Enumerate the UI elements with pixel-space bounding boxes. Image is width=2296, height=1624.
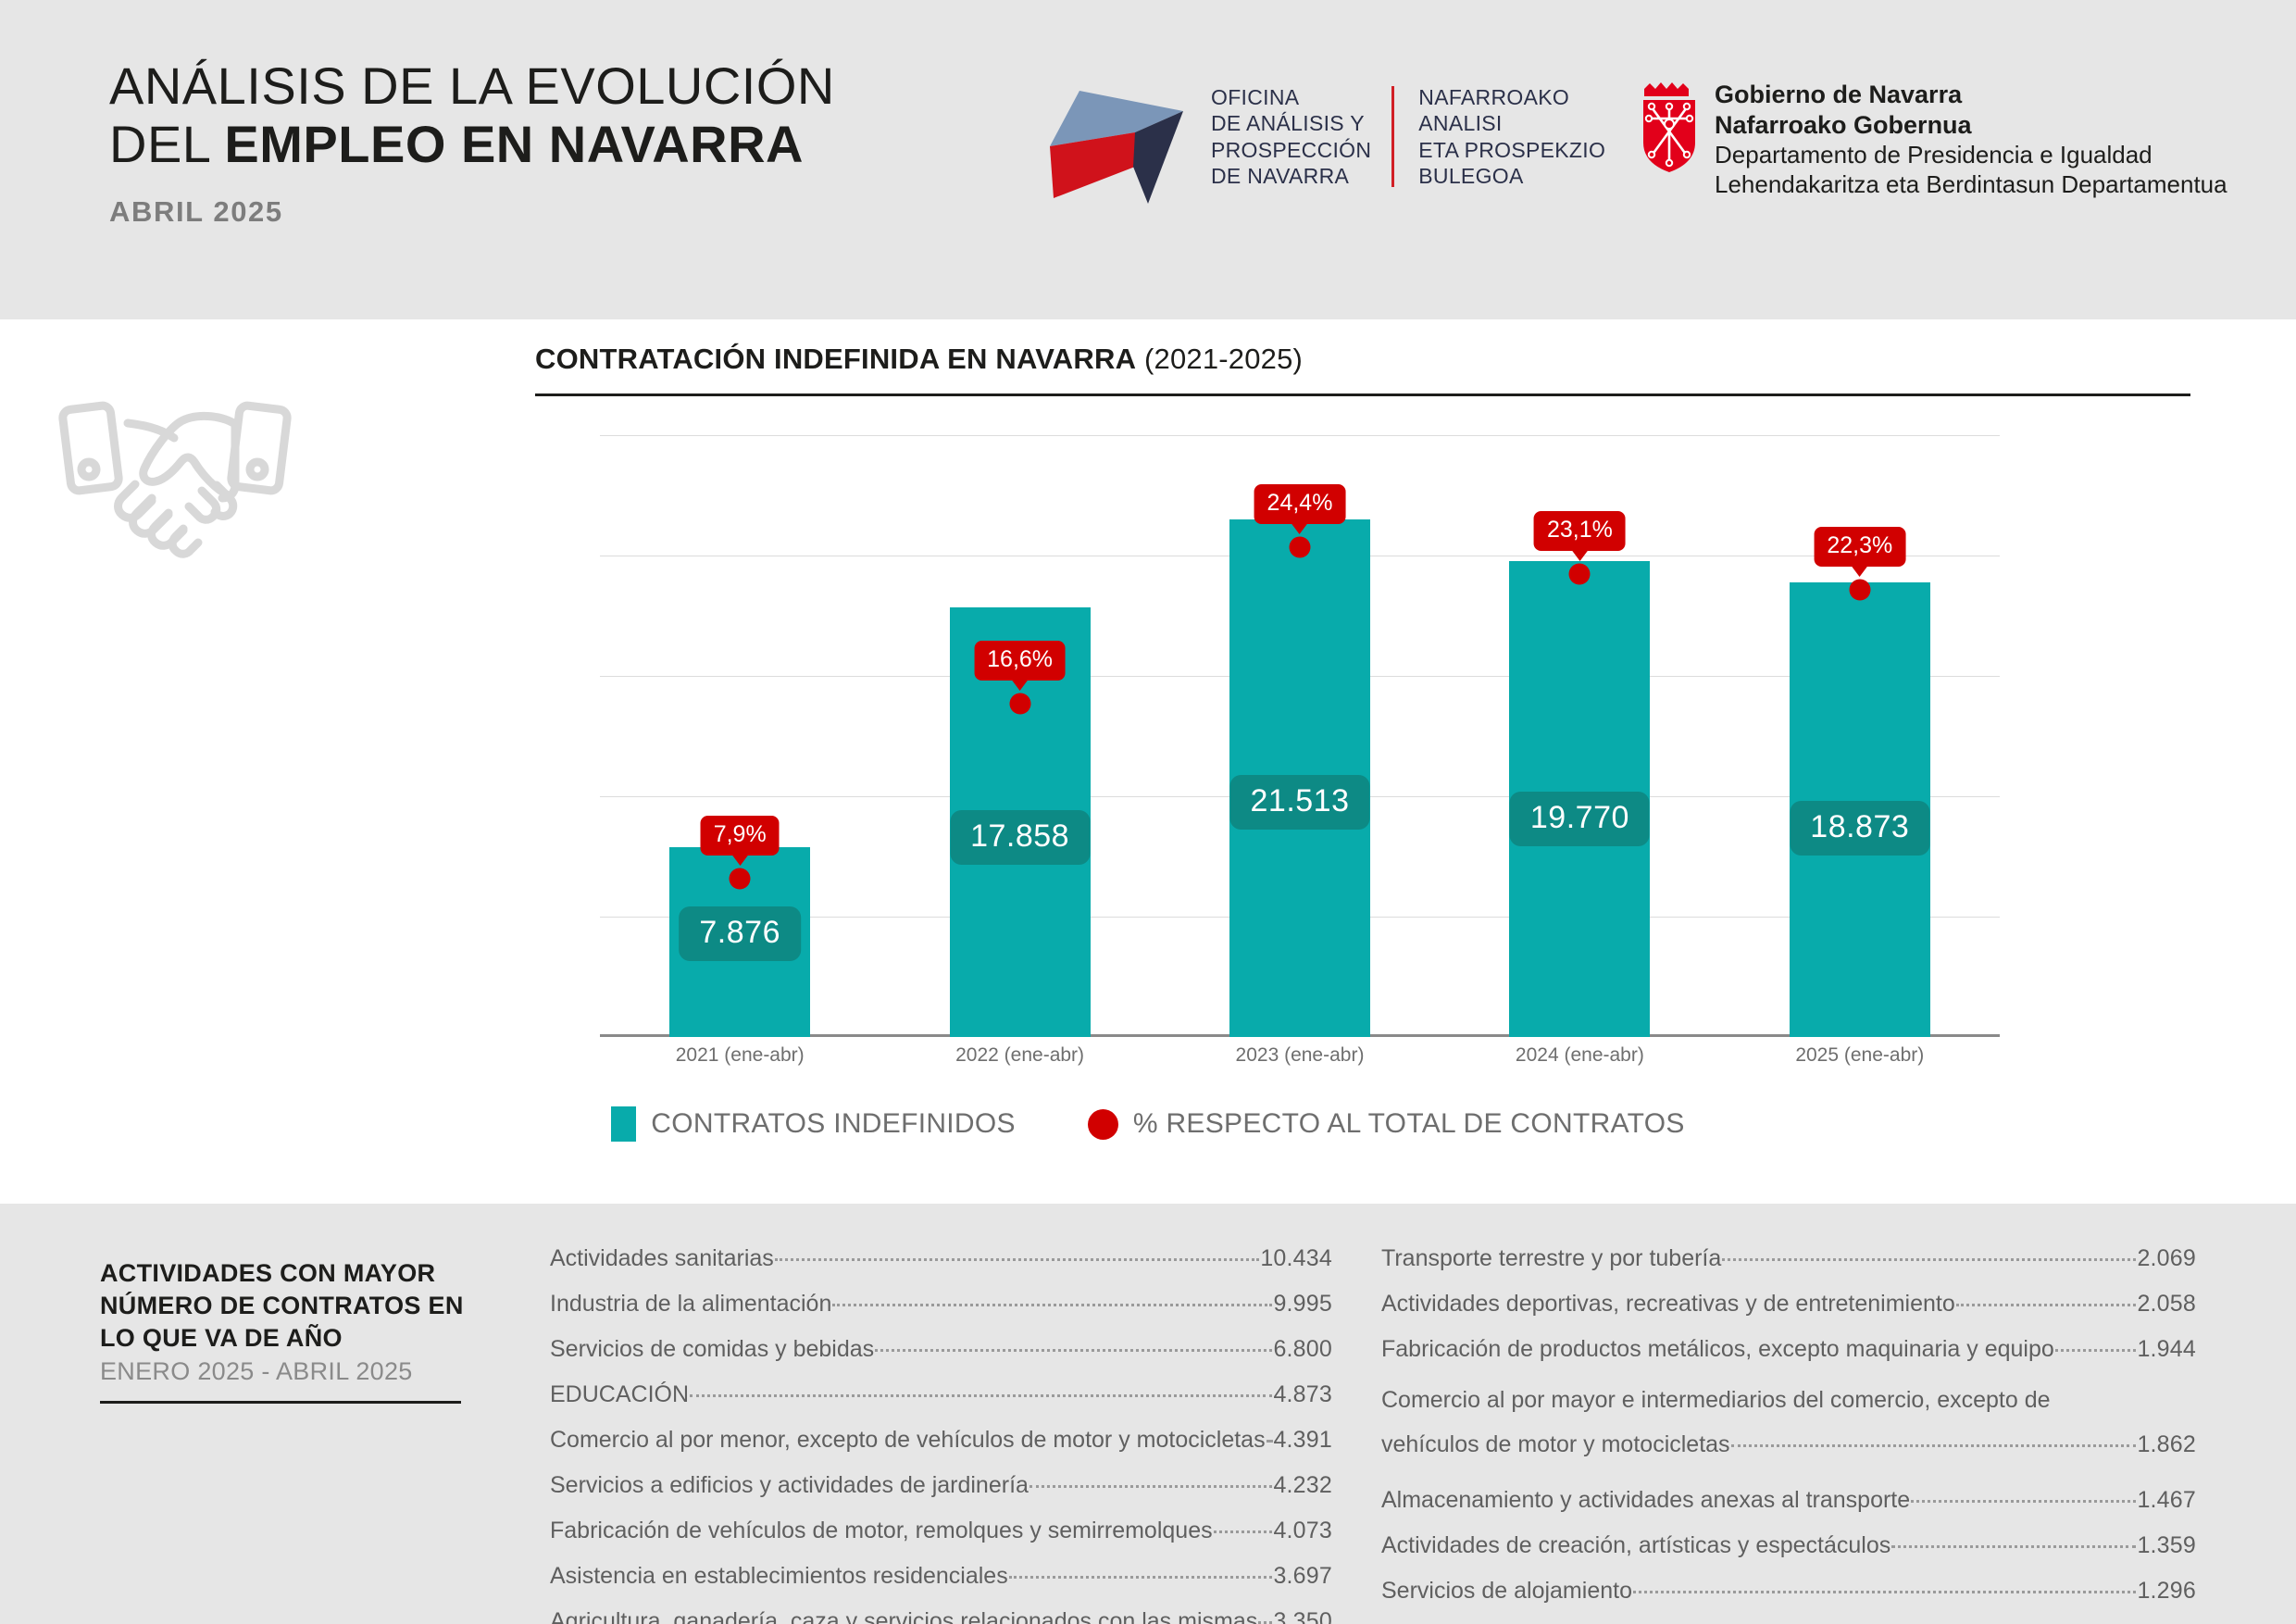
y-gridline [600,435,2000,436]
header-band: ANÁLISIS DE LA EVOLUCIÓN DEL EMPLEO EN N… [0,0,2296,319]
activity-list-item: Fabricación de vehículos de motor, remol… [550,1505,1332,1551]
activity-list-item: Comercio al por menor, excepto de vehícu… [550,1415,1332,1460]
bar-value-label: 17.858 [950,810,1090,865]
activities-heading-rule [100,1401,461,1404]
leader-dots [1722,1238,2136,1261]
leader-dots [832,1283,1272,1306]
activity-name: Comercio al por menor, excepto de vehícu… [550,1429,1266,1452]
activity-value: 4.391 [1273,1429,1332,1452]
percent-marker-dot[interactable] [1569,563,1591,584]
legend-label-porcentaje: % RESPECTO AL TOTAL DE CONTRATOS [1133,1108,1685,1140]
percent-marker-dot[interactable] [1849,579,1870,600]
leader-dots [1731,1424,2137,1447]
title-block: ANÁLISIS DE LA EVOLUCIÓN DEL EMPLEO EN N… [109,57,835,229]
activity-list-item: Industria de la alimentación9.995 [550,1279,1332,1324]
activity-name: Agricultura, ganadería, caza y servicios… [550,1610,1257,1624]
activity-name: Industria de la alimentación [550,1293,831,1316]
infographic-page: ANÁLISIS DE LA EVOLUCIÓN DEL EMPLEO EN N… [0,0,2296,1624]
activity-name: Transporte terrestre y por tubería [1381,1247,1721,1270]
activity-list-item: Agricultura, ganadería, caza y servicios… [550,1596,1332,1624]
activities-subheading: ENERO 2025 - ABRIL 2025 [100,1357,489,1386]
activities-list-left: Actividades sanitarias10.434Industria de… [550,1233,1332,1624]
activity-name: Actividades de creación, artísticas y es… [1381,1534,1890,1557]
chart-title: CONTRATACIÓN INDEFINIDA EN NAVARRA (2021… [535,343,1303,376]
activity-name: Actividades deportivas, recreativas y de… [1381,1293,1955,1316]
activity-list-item: Comercio al por mayor e intermediarios d… [1381,1369,2196,1475]
bar-value-label: 7.876 [679,906,801,961]
activity-list-item: Actividades sanitarias10.434 [550,1233,1332,1279]
activity-value: 9.995 [1273,1293,1332,1316]
oficina-logo-text-es: OFICINADE ANÁLISIS YPROSPECCIÓNDE NAVARR… [1211,84,1371,189]
page-title-line2-thin: DEL [109,115,224,173]
activity-list-item: Actividades de creación, artísticas y es… [1381,1520,2196,1566]
activity-name: Servicios de alojamiento [1381,1580,1632,1603]
logo-divider [1391,86,1394,187]
activity-value: 1.862 [2137,1423,2196,1468]
page-title-line1: ANÁLISIS DE LA EVOLUCIÓN [109,57,835,116]
leader-dots [1891,1525,2136,1548]
activities-heading: ACTIVIDADES CON MAYOR NÚMERO DE CONTRATO… [100,1257,489,1355]
chart-title-rule [535,394,2190,396]
legend-circle-icon [1088,1109,1118,1140]
activity-value: 3.697 [1273,1565,1332,1588]
chart-title-bold: CONTRATACIÓN INDEFINIDA EN NAVARRA [535,343,1136,375]
leader-dots [1258,1601,1272,1624]
percent-marker-dot[interactable] [1009,693,1030,715]
activity-name: Asistencia en establecimientos residenci… [550,1565,1008,1588]
gobierno-logo-text: Gobierno de Navarra Nafarroako Gobernua … [1715,80,2227,199]
page-title-line2-bold: EMPLEO EN NAVARRA [224,115,804,173]
activity-list-item: Servicios de alojamiento1.296 [1381,1566,2196,1611]
leader-dots [1633,1570,2136,1593]
leader-dots [1956,1283,2137,1306]
page-subtitle: ABRIL 2025 [109,195,835,229]
percent-marker-dot[interactable] [730,868,751,889]
activity-name: EDUCACIÓN [550,1383,689,1406]
activity-list-item: EDUCACIÓN4.873 [550,1369,1332,1415]
activity-value: 4.232 [1273,1474,1332,1497]
bottom-band: ACTIVIDADES CON MAYOR NÚMERO DE CONTRATO… [0,1204,2296,1624]
gobierno-line4: Lehendakaritza eta Berdintasun Departame… [1715,170,2227,200]
percent-value-badge: 24,4% [1254,484,1346,524]
x-axis-tick-label: 2025 (ene-abr) [1720,1044,2000,1067]
leader-dots [690,1374,1272,1397]
leader-dots [875,1329,1272,1352]
gobierno-line1: Gobierno de Navarra [1715,80,2227,110]
oficina-logo-text: OFICINADE ANÁLISIS YPROSPECCIÓNDE NAVARR… [1211,84,1605,189]
gobierno-line3: Departamento de Presidencia e Igualdad [1715,141,2227,170]
percent-value-badge: 23,1% [1534,511,1626,551]
legend-item-porcentaje: % RESPECTO AL TOTAL DE CONTRATOS [1088,1108,1685,1140]
activity-list-item: Actividades de construcción especializad… [1381,1611,2196,1624]
activity-name-cont: vehículos de motor y motocicletas [1381,1423,1730,1468]
activity-value: 4.073 [1273,1519,1332,1543]
activity-value: 4.873 [1273,1383,1332,1406]
activities-heading-line1: ACTIVIDADES CON MAYOR [100,1257,489,1290]
activity-name: Servicios a edificios y actividades de j… [550,1474,1029,1497]
percent-value-badge: 7,9% [701,816,780,856]
x-axis-tick-label: 2024 (ene-abr) [1440,1044,1719,1067]
activity-name: Servicios de comidas y bebidas [550,1338,874,1361]
gobierno-navarra-logo: Gobierno de Navarra Nafarroako Gobernua … [1641,80,2233,219]
x-axis-tick-label: 2023 (ene-abr) [1160,1044,1440,1067]
activity-name: Comercio al por mayor e intermediarios d… [1381,1379,2196,1423]
leader-dots [775,1238,1260,1261]
activity-value: 2.069 [2137,1247,2196,1270]
bar-value-label: 19.770 [1510,792,1650,846]
percent-value-badge: 22,3% [1814,527,1905,567]
chart-plot-area: 05.00010.00015.00020.00025.0000%5%10%15%… [600,435,2000,1037]
chart-legend: CONTRATOS INDEFINIDOS % RESPECTO AL TOTA… [0,1106,2296,1142]
activity-list-item: Servicios a edificios y actividades de j… [550,1460,1332,1505]
activities-heading-block: ACTIVIDADES CON MAYOR NÚMERO DE CONTRATO… [100,1257,489,1404]
percent-value-badge: 16,6% [974,641,1066,681]
navarra-shield-icon [1641,81,1698,174]
bar-value-label: 21.513 [1230,775,1370,830]
oficina-logo-text-eu: NAFARROAKOANALISIETA PROSPEKZIOBULEGOA [1418,84,1605,189]
page-title-line2: DEL EMPLEO EN NAVARRA [109,116,835,174]
activity-name: Almacenamiento y actividades anexas al t… [1381,1489,1910,1512]
activity-value: 10.434 [1260,1247,1332,1270]
activity-value: 2.058 [2137,1293,2196,1316]
percent-marker-dot[interactable] [1290,537,1311,558]
activity-list-item: Almacenamiento y actividades anexas al t… [1381,1475,2196,1520]
bar-value-label: 18.873 [1790,801,1929,856]
leader-dots [1009,1555,1273,1579]
leader-dots [1911,1480,2136,1503]
activity-list-item: Asistencia en establecimientos residenci… [550,1551,1332,1596]
x-axis-tick-label: 2021 (ene-abr) [600,1044,880,1067]
activities-heading-line3: LO QUE VA DE AÑO [100,1322,489,1355]
activity-name: Actividades sanitarias [550,1247,774,1270]
activity-value: 6.800 [1273,1338,1332,1361]
oficina-analisis-logo: OFICINADE ANÁLISIS YPROSPECCIÓNDE NAVARR… [1044,81,1600,211]
gobierno-line2: Nafarroako Gobernua [1715,110,2227,141]
activity-list-item: Transporte terrestre y por tubería2.069 [1381,1233,2196,1279]
bar-contratos-indefinidos[interactable]: 19.770 [1509,561,1650,1037]
activity-list-item: Servicios de comidas y bebidas6.800 [550,1324,1332,1369]
bar-contratos-indefinidos[interactable]: 21.513 [1229,519,1370,1037]
activity-list-item: Fabricación de productos metálicos, exce… [1381,1324,2196,1369]
activity-value: 1.467 [2137,1489,2196,1512]
leader-dots [1214,1510,1273,1533]
activity-value: 1.359 [2137,1534,2196,1557]
leader-dots [2055,1329,2137,1352]
leader-dots [1816,1616,2136,1624]
activity-value: 1.296 [2137,1580,2196,1603]
bar-contratos-indefinidos[interactable]: 18.873 [1790,582,1930,1037]
legend-square-icon [611,1106,636,1142]
legend-item-contratos: CONTRATOS INDEFINIDOS [611,1106,1016,1142]
activity-value: 3.350 [1273,1610,1332,1624]
activities-heading-line2: NÚMERO DE CONTRATOS EN [100,1290,489,1322]
chart-title-range: (2021-2025) [1136,343,1303,375]
legend-label-contratos: CONTRATOS INDEFINIDOS [651,1108,1016,1140]
activities-list-right: Transporte terrestre y por tubería2.069A… [1381,1233,2196,1624]
activity-value: 1.944 [2137,1338,2196,1361]
leader-dots [1029,1465,1273,1488]
activity-name: Fabricación de productos metálicos, exce… [1381,1338,2054,1361]
activity-name: Fabricación de vehículos de motor, remol… [550,1519,1213,1543]
handshake-icon [54,389,313,588]
x-axis-tick-label: 2022 (ene-abr) [880,1044,1159,1067]
cube-logo-icon [1044,81,1192,206]
leader-dots [1267,1419,1273,1443]
activity-list-item: Actividades deportivas, recreativas y de… [1381,1279,2196,1324]
